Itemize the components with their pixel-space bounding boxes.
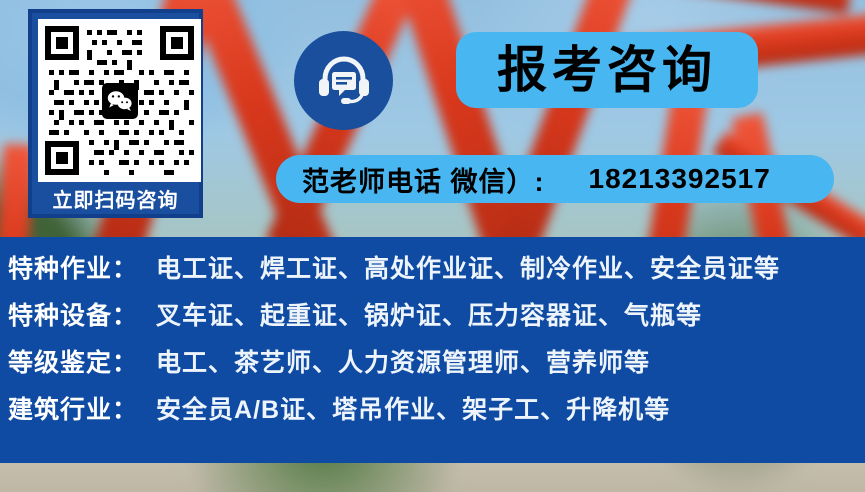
service-row-label: 特种设备： — [8, 296, 138, 332]
service-row-value: 电工证、焊工证、高处作业证、制冷作业、安全员证等 — [156, 249, 780, 285]
qr-code-card[interactable]: 立即扫码咨询 — [28, 9, 203, 218]
qr-caption: 立即扫码咨询 — [38, 182, 193, 220]
wechat-icon — [102, 83, 138, 119]
advertisement-banner: 立即扫码咨询 报考咨询 范老师电话 微信）: 18213392517 特种作业：… — [0, 0, 865, 492]
qr-code-icon[interactable] — [38, 19, 201, 182]
service-row-value: 叉车证、起重证、锅炉证、压力容器证、气瓶等 — [156, 296, 702, 332]
service-row-grade-assessment: 等级鉴定： 电工、茶艺师、人力资源管理师、营养师等 — [8, 343, 857, 390]
service-row-label: 等级鉴定： — [8, 343, 138, 379]
title-button-label: 报考咨询 — [497, 45, 717, 95]
service-row-special-operations: 特种作业： 电工证、焊工证、高处作业证、制冷作业、安全员证等 — [8, 249, 857, 296]
service-row-label: 建筑行业： — [8, 390, 138, 426]
service-row-label: 特种作业： — [8, 249, 138, 285]
services-panel: 特种作业： 电工证、焊工证、高处作业证、制冷作业、安全员证等 特种设备： 叉车证… — [0, 237, 865, 463]
contact-bar[interactable]: 范老师电话 微信）: 18213392517 — [276, 155, 834, 203]
service-row-value: 安全员A/B证、塔吊作业、架子工、升降机等 — [156, 390, 670, 426]
background-photo-bottom-strip — [0, 463, 865, 492]
title-button[interactable]: 报考咨询 — [456, 32, 758, 108]
service-row-value: 电工、茶艺师、人力资源管理师、营养师等 — [156, 343, 650, 379]
contact-label: 范老师电话 微信）: — [302, 160, 545, 199]
headset-support-icon[interactable] — [294, 31, 393, 130]
contact-number[interactable]: 18213392517 — [589, 163, 771, 195]
service-row-special-equipment: 特种设备： 叉车证、起重证、锅炉证、压力容器证、气瓶等 — [8, 296, 857, 343]
service-row-construction-industry: 建筑行业： 安全员A/B证、塔吊作业、架子工、升降机等 — [8, 390, 857, 437]
